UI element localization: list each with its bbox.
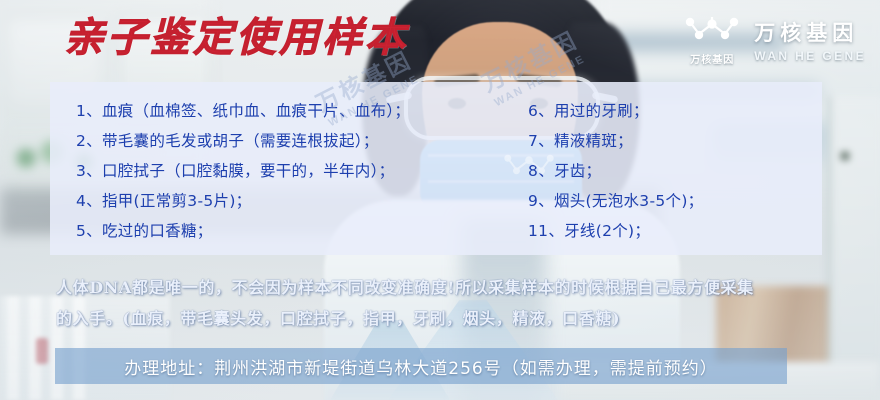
list-item: 7、精液精斑； <box>528 126 822 156</box>
list-item: 8、牙齿； <box>528 156 822 186</box>
brand-logo: 万核基因 万核基因 WAN HE GENE <box>684 14 866 66</box>
brand-name-en: WAN HE GENE <box>754 49 866 63</box>
logo-caption: 万核基因 <box>690 51 734 66</box>
list-item: 3、口腔拭子（口腔黏膜，要干的，半年内）； <box>76 156 502 186</box>
note-paragraph: 人体DNA都是唯一的，不会因为样本不同改变准确度!所以采集样本的时候根据自己最方… <box>56 272 846 334</box>
list-item: 11、牙线(2个)； <box>528 216 822 246</box>
list-item: 2、带毛囊的毛发或胡子（需要连根拔起）； <box>76 126 502 156</box>
molecule-icon <box>684 14 740 49</box>
page-title: 亲子鉴定使用样本 <box>64 16 408 60</box>
brand-text: 万核基因 WAN HE GENE <box>754 17 866 63</box>
list-item: 9、烟头(无泡水3-5个)； <box>528 186 822 216</box>
list-item: 4、指甲(正常剪3-5片)； <box>76 186 502 216</box>
brand-name-cn: 万核基因 <box>754 17 866 47</box>
address-text: 办理地址：荆州洪湖市新堤街道乌林大道256号（如需办理，需提前预约） <box>124 354 717 379</box>
sample-list-panel: 1、血痕（血棉签、纸巾血、血痕干片、血布）； 2、带毛囊的毛发或胡子（需要连根拔… <box>50 82 822 255</box>
note-line-2: 的入手。(血痕，带毛囊头发，口腔拭子，指甲，牙刷，烟头，精液，口香糖) <box>56 303 846 334</box>
note-line-1: 人体DNA都是唯一的，不会因为样本不同改变准确度!所以采集样本的时候根据自己最方… <box>56 272 846 303</box>
address-bar: 办理地址：荆州洪湖市新堤街道乌林大道256号（如需办理，需提前预约） <box>55 348 787 384</box>
logo-mark: 万核基因 <box>684 14 740 66</box>
sample-list-right-column: 6、用过的牙刷； 7、精液精斑； 8、牙齿； 9、烟头(无泡水3-5个)； 11… <box>502 96 822 255</box>
list-item: 5、吃过的口香糖； <box>76 216 502 246</box>
sample-list-left-column: 1、血痕（血棉签、纸巾血、血痕干片、血布）； 2、带毛囊的毛发或胡子（需要连根拔… <box>50 96 502 255</box>
list-item: 1、血痕（血棉签、纸巾血、血痕干片、血布）； <box>76 96 502 126</box>
list-item: 6、用过的牙刷； <box>528 96 822 126</box>
